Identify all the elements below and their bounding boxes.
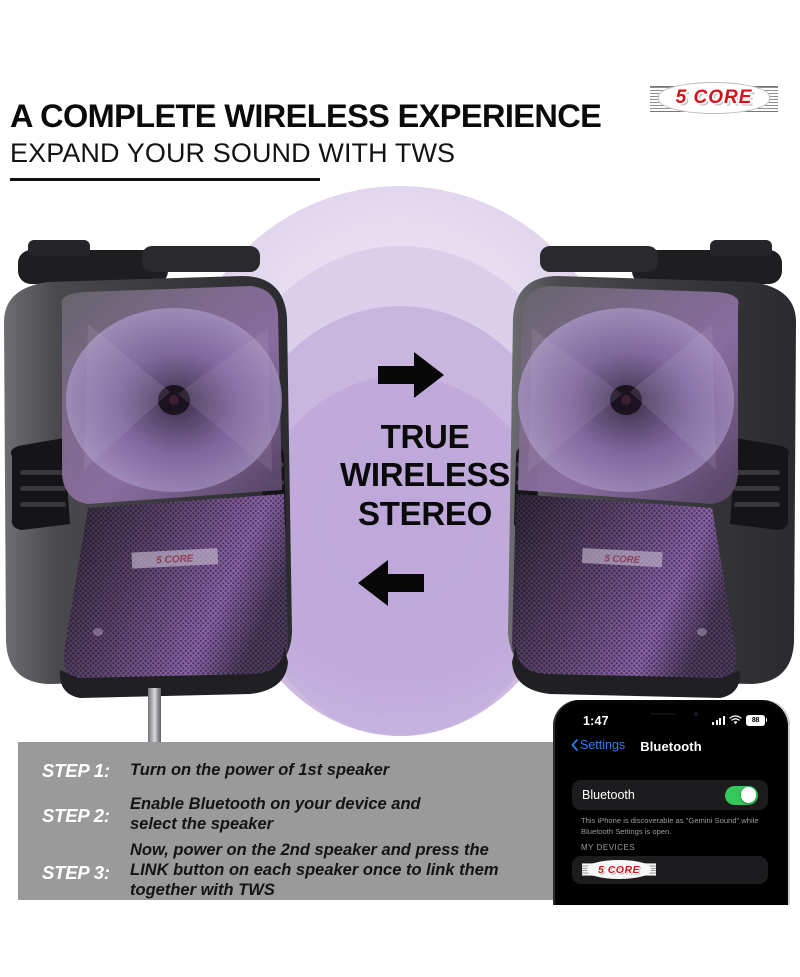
tws-line-1: TRUE	[310, 418, 540, 456]
brand-logo: 5 CORE	[650, 82, 778, 114]
battery-level: 88	[752, 717, 759, 724]
wifi-icon	[729, 715, 742, 725]
bluetooth-row-label: Bluetooth	[582, 788, 725, 802]
screen-title: Bluetooth	[557, 739, 785, 754]
device-list-item[interactable]: 5 CORE	[572, 856, 768, 884]
bluetooth-discoverable-note: This iPhone is discoverable as "Gemini S…	[581, 816, 769, 838]
step-text-3: Now, power on the 2nd speaker and press …	[130, 840, 500, 900]
step-label-1: STEP 1:	[42, 760, 130, 782]
step-row-2: STEP 2: Enable Bluetooth on your device …	[42, 794, 430, 834]
logo-text: 5 CORE	[650, 82, 778, 114]
device-name: 5 CORE	[582, 860, 656, 879]
marketing-banner: A COMPLETE WIRELESS EXPERIENCE EXPAND YO…	[0, 0, 800, 977]
page-title: A COMPLETE WIRELESS EXPERIENCE	[10, 100, 601, 133]
step-row-1: STEP 1: Turn on the power of 1st speaker	[42, 760, 389, 782]
status-icons: 88	[712, 715, 765, 726]
status-time: 1:47	[583, 714, 609, 728]
my-devices-header: MY DEVICES	[581, 843, 635, 852]
phone-screen: 1:47 88	[557, 704, 785, 905]
cellular-bars-icon	[712, 715, 725, 725]
title-underline	[10, 178, 320, 181]
svg-text:5 CORE: 5 CORE	[156, 553, 194, 566]
speaker-right: 5 CORE	[508, 232, 800, 702]
tws-line-3: STEREO	[310, 495, 540, 533]
status-bar: 1:47 88	[557, 714, 785, 734]
svg-text:5 CORE: 5 CORE	[604, 553, 641, 566]
step-text-2: Enable Bluetooth on your device and sele…	[130, 794, 430, 834]
device-brand-logo: 5 CORE	[582, 860, 656, 879]
toggle-knob	[741, 787, 757, 803]
step-label-2: STEP 2:	[42, 794, 130, 827]
step-label-3: STEP 3:	[42, 840, 130, 884]
nav-bar: Settings Bluetooth	[557, 738, 785, 760]
step-text-1: Turn on the power of 1st speaker	[130, 760, 389, 780]
tws-headline: TRUE WIRELESS STEREO	[310, 418, 540, 533]
speaker-left: 5 CORE	[0, 232, 292, 702]
bluetooth-toggle[interactable]	[725, 786, 758, 805]
page-subtitle: EXPAND YOUR SOUND WITH TWS	[10, 140, 455, 167]
tws-line-2: WIRELESS	[310, 456, 540, 494]
battery-icon: 88	[746, 715, 765, 726]
steps-panel: STEP 1: Turn on the power of 1st speaker…	[18, 742, 626, 900]
bluetooth-toggle-row[interactable]: Bluetooth	[572, 780, 768, 810]
phone-mockup: 1:47 88	[553, 700, 790, 905]
step-row-3: STEP 3: Now, power on the 2nd speaker an…	[42, 840, 500, 900]
speaker-stand-pole	[148, 688, 161, 750]
